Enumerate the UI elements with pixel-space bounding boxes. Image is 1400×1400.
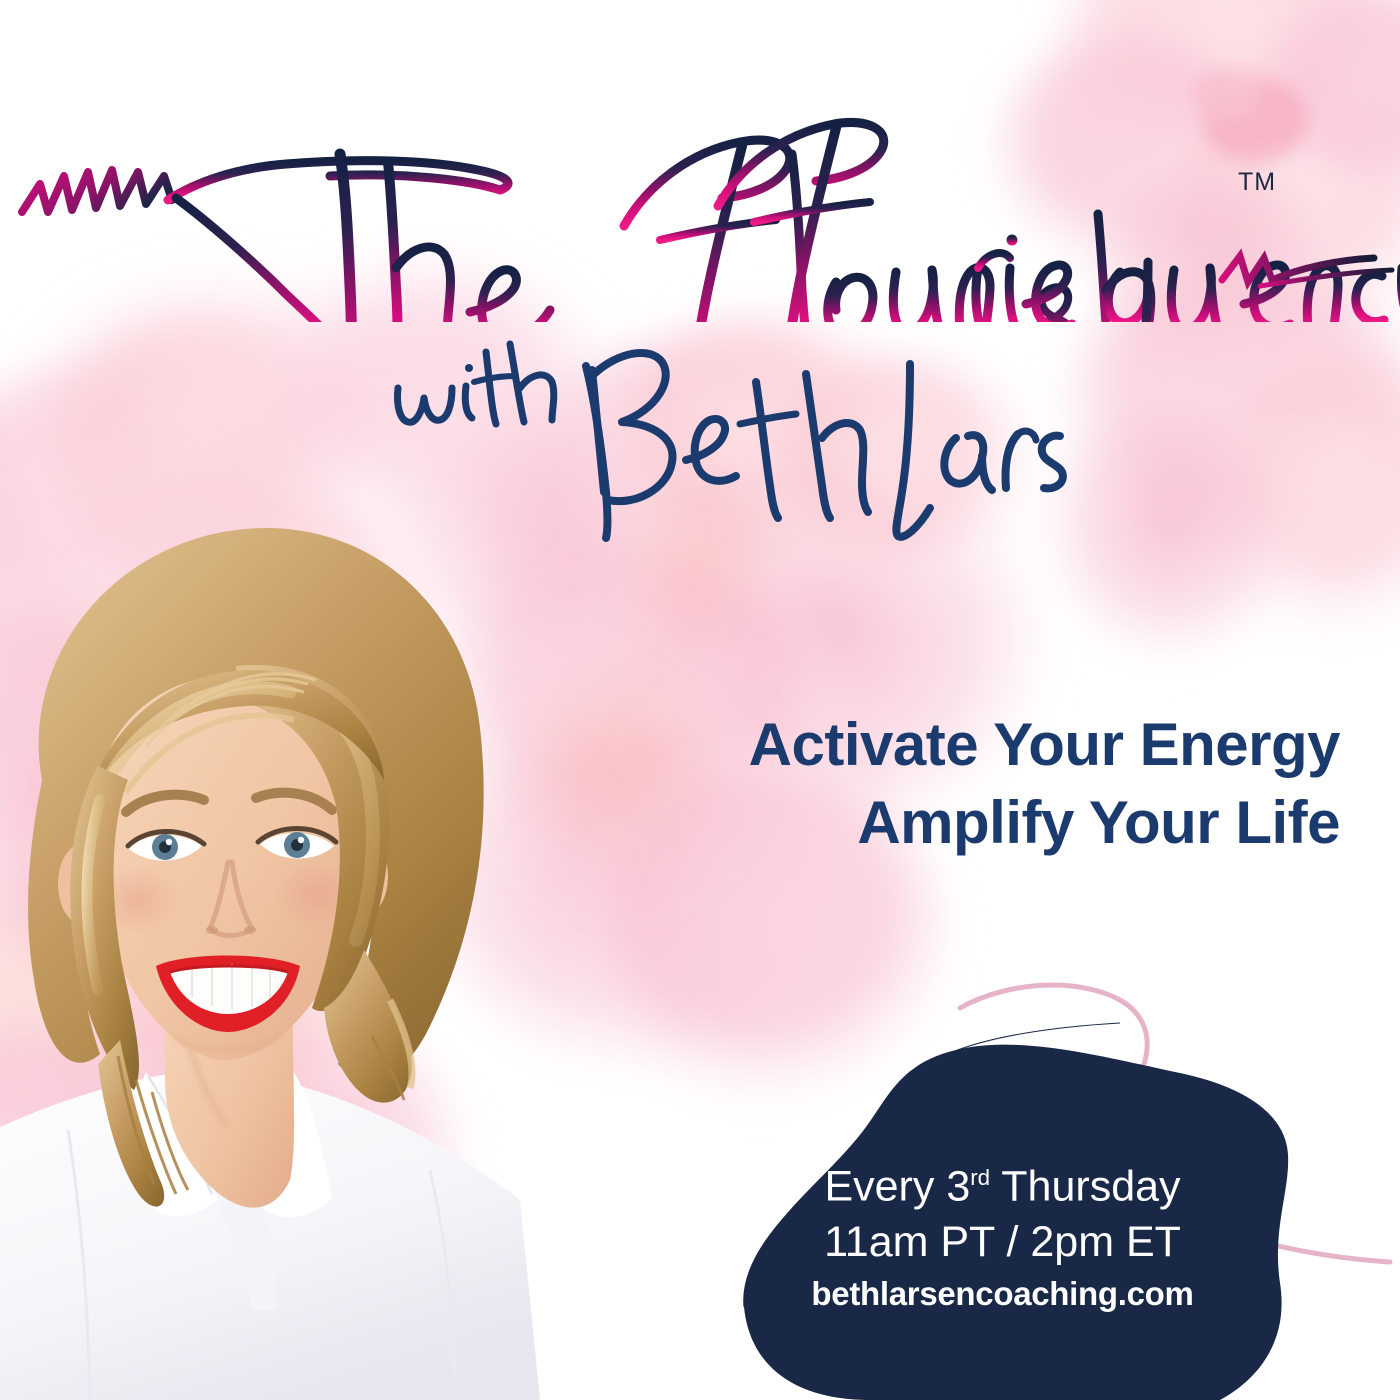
- byline-letters-eth: [686, 374, 868, 518]
- schedule-frequency-suffix: Thursday: [990, 1162, 1180, 1210]
- website-link[interactable]: bethlarsencoaching.com: [745, 1270, 1260, 1318]
- portrait-svg: [0, 480, 640, 1400]
- byline-word-with: [397, 344, 553, 424]
- schedule-frequency-prefix: Every 3: [824, 1162, 970, 1210]
- logo-letter-F: [624, 140, 790, 322]
- tagline: Activate Your Energy Amplify Your Life: [0, 706, 1340, 862]
- schedule-frequency: Every 3rd Thursday: [745, 1150, 1260, 1214]
- tagline-line-1: Activate Your Energy: [0, 706, 1340, 784]
- schedule-time: 11am PT / 2pm ET: [745, 1214, 1260, 1270]
- byline-letter-B: [586, 353, 673, 538]
- logo-script-svg: TM: [0, 72, 1400, 322]
- page-title: TM: [0, 72, 1400, 322]
- logo-letter-T: [168, 154, 508, 322]
- tagline-line-2: Amplify Your Life: [0, 784, 1340, 862]
- byline-letters-arsen: [944, 431, 1063, 490]
- trademark-symbol: TM: [1238, 168, 1276, 196]
- promo-graphic-canvas: TM: [0, 0, 1400, 1400]
- schedule-text-block: Every 3rd Thursday 11am PT / 2pm ET beth…: [745, 1150, 1260, 1318]
- schedule-frequency-ordinal: rd: [970, 1165, 990, 1190]
- zigzag-flourish-icon: [22, 170, 172, 212]
- host-byline-svg: [370, 330, 1070, 545]
- avatar: [0, 480, 640, 1400]
- byline-letter-L: [896, 364, 930, 537]
- host-byline: [370, 330, 1070, 545]
